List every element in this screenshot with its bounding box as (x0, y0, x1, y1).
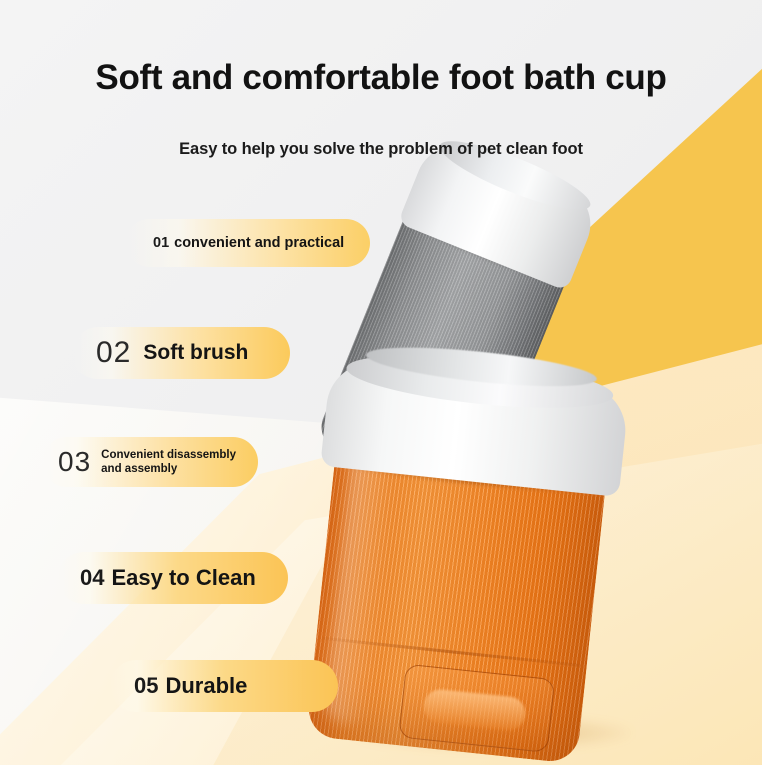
feature-label-01: convenient and practical (174, 235, 344, 251)
feature-label-05: Durable (165, 673, 247, 699)
feature-label-04: Easy to Clean (111, 565, 255, 591)
feature-pill-05: 05 Durable (110, 660, 338, 712)
feature-label-03: Convenient disassembly and assembly (101, 448, 251, 477)
feature-number-01: 01 (153, 235, 169, 251)
page-title: Soft and comfortable foot bath cup (0, 58, 762, 98)
orange-foot-bath-cup (292, 336, 632, 765)
feature-number-02: 02 (96, 336, 131, 370)
product-banner: Soft and comfortable foot bath cup Easy … (0, 0, 762, 765)
feature-number-04: 04 (80, 565, 104, 591)
feature-pill-01: 01 convenient and practical (125, 219, 370, 267)
page-subtitle: Easy to help you solve the problem of pe… (0, 140, 762, 159)
feature-label-02: Soft brush (143, 341, 248, 365)
feature-number-03: 03 (58, 446, 91, 478)
feature-pill-03: 03 Convenient disassembly and assembly (42, 437, 258, 487)
feature-number-05: 05 (134, 673, 158, 699)
feature-pill-04: 04 Easy to Clean (58, 552, 288, 604)
feature-pill-02: 02 Soft brush (72, 327, 290, 379)
